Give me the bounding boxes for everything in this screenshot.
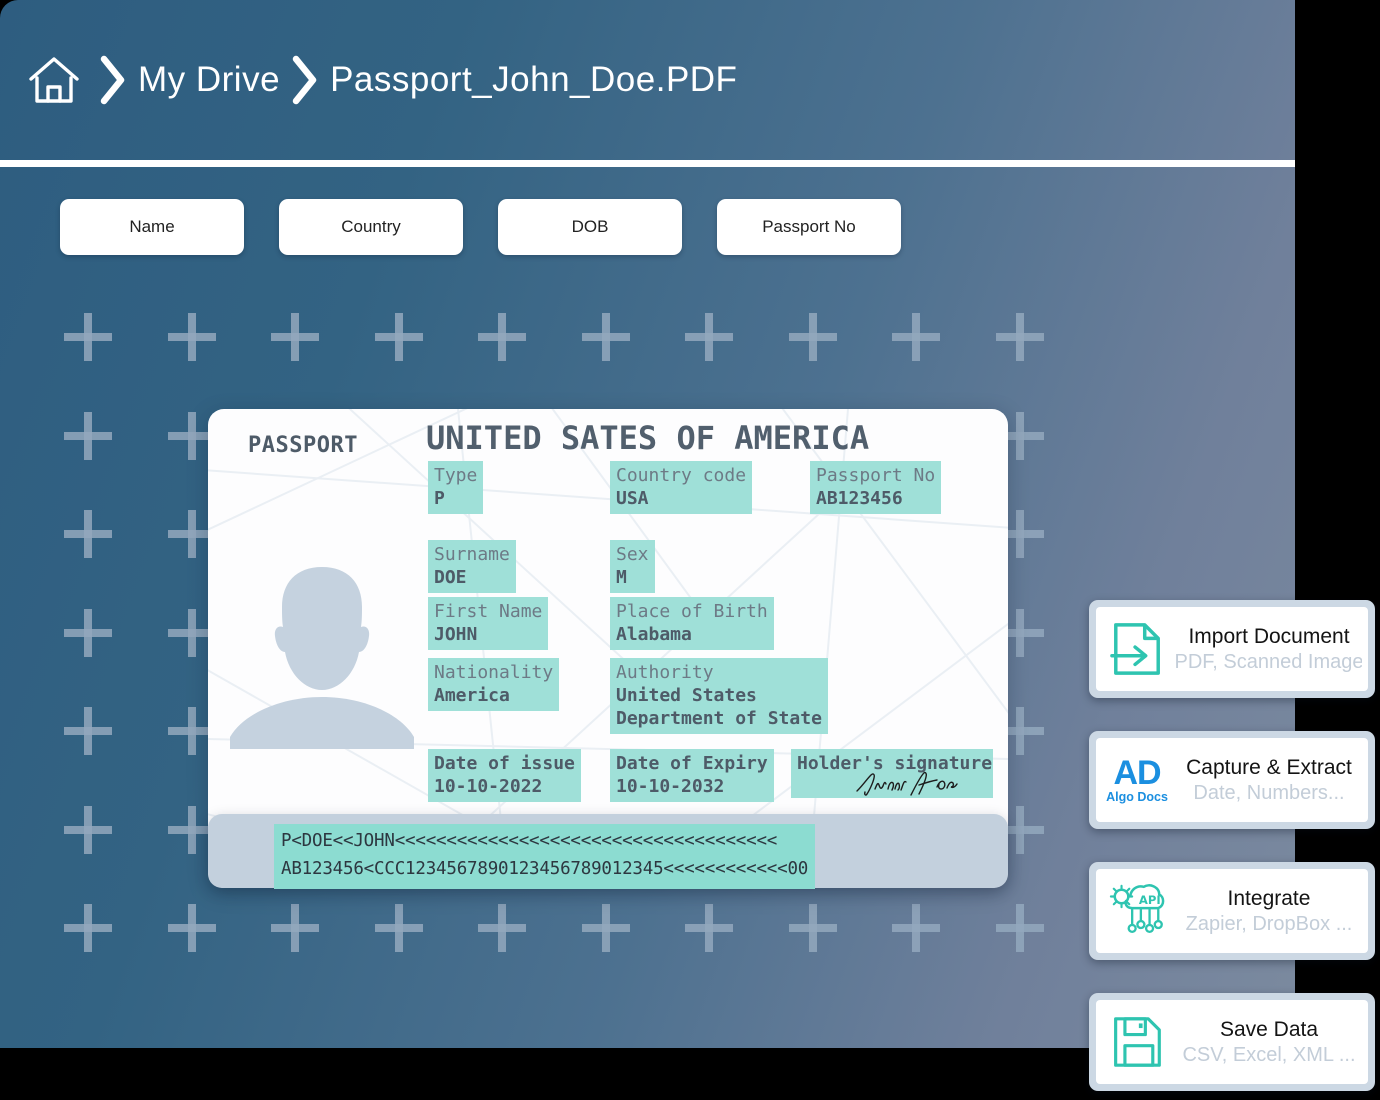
plus-decoration-icon — [375, 904, 423, 952]
plus-decoration-icon — [478, 904, 526, 952]
passport-field-sex[interactable]: Sex M — [610, 540, 655, 593]
mrz-line-1: P<DOE<<JOHN<<<<<<<<<<<<<<<<<<<<<<<<<<<<<… — [281, 831, 777, 851]
import-document-icon — [1106, 617, 1168, 681]
extracted-field-tabs: Name Country DOB Passport No — [60, 199, 901, 255]
feature-card-save-data[interactable]: Save Data CSV, Excel, XML ... — [1089, 993, 1375, 1091]
field-value: Alabama — [616, 623, 768, 646]
feature-card-text: Import Document PDF, Scanned Image — [1176, 624, 1362, 674]
passport-country-title: UNITED SATES OF AMERICA — [426, 419, 869, 457]
plus-decoration-icon — [271, 904, 319, 952]
field-value: United States Department of State — [616, 684, 822, 730]
chevron-right-icon — [288, 51, 322, 109]
algo-docs-monogram: AD — [1113, 756, 1160, 790]
feature-card-import-document[interactable]: Import Document PDF, Scanned Image — [1089, 600, 1375, 698]
feature-card-subtitle: CSV, Excel, XML ... — [1182, 1043, 1355, 1067]
field-value: USA — [616, 487, 746, 510]
passport-field-authority[interactable]: Authority United States Department of St… — [610, 658, 828, 734]
screenshot-root: My Drive Passport_John_Doe.PDF Name Coun… — [0, 0, 1380, 1100]
floppy-disk-icon — [1106, 1010, 1168, 1074]
field-value: 10-10-2022 — [434, 775, 575, 798]
handwritten-signature — [853, 771, 961, 797]
plus-decoration-icon — [685, 904, 733, 952]
feature-card-subtitle: Zapier, DropBox ... — [1186, 912, 1353, 936]
plus-decoration-icon — [271, 313, 319, 361]
mrz-tray: P<DOE<<JOHN<<<<<<<<<<<<<<<<<<<<<<<<<<<<<… — [208, 814, 1008, 888]
field-label: Country code — [616, 464, 746, 487]
field-tab-name[interactable]: Name — [60, 199, 244, 255]
feature-card-text: Integrate Zapier, DropBox ... — [1176, 886, 1362, 936]
feature-card-inner: Save Data CSV, Excel, XML ... — [1096, 1000, 1368, 1084]
field-label: Nationality — [434, 661, 553, 684]
field-label: First Name — [434, 600, 542, 623]
feature-card-integrate[interactable]: API Integrate Zapier, DropBox ... — [1089, 862, 1375, 960]
feature-card-title: Capture & Extract — [1186, 755, 1352, 781]
passport-field-surname[interactable]: Surname DOE — [428, 540, 516, 593]
svg-text:API: API — [1139, 893, 1161, 907]
passport-field-first-name[interactable]: First Name JOHN — [428, 597, 548, 650]
feature-card-title: Integrate — [1228, 886, 1311, 912]
field-value: P — [434, 487, 477, 510]
plus-decoration-icon — [685, 313, 733, 361]
plus-decoration-icon — [375, 313, 423, 361]
algo-docs-logo: AD Algo Docs — [1106, 748, 1168, 812]
feature-card-subtitle: PDF, Scanned Image — [1176, 650, 1362, 674]
field-value: AB123456 — [816, 487, 935, 510]
field-label: Place of Birth — [616, 600, 768, 623]
field-label: Date of issue — [434, 752, 575, 775]
plus-decoration-icon — [789, 904, 837, 952]
header-divider — [0, 160, 1295, 167]
feature-card-inner: AD Algo Docs Capture & Extract Date, Num… — [1096, 738, 1368, 822]
passport-type-label: PASSPORT — [248, 433, 358, 458]
field-label: Sex — [616, 543, 649, 566]
passport-field-country-code[interactable]: Country code USA — [610, 461, 752, 514]
feature-card-title: Import Document — [1188, 624, 1349, 650]
app-header: My Drive Passport_John_Doe.PDF — [0, 0, 1295, 160]
field-label: Type — [434, 464, 477, 487]
field-value: M — [616, 566, 649, 589]
feature-card-inner: Import Document PDF, Scanned Image — [1096, 607, 1368, 691]
feature-card-capture-extract[interactable]: AD Algo Docs Capture & Extract Date, Num… — [1089, 731, 1375, 829]
field-tab-passport-no[interactable]: Passport No — [717, 199, 901, 255]
field-label: Passport No — [816, 464, 935, 487]
plus-decoration-icon — [996, 904, 1044, 952]
field-value: JOHN — [434, 623, 542, 646]
plus-decoration-icon — [168, 313, 216, 361]
field-label: Surname — [434, 543, 510, 566]
plus-decoration-icon — [64, 412, 112, 460]
plus-decoration-icon — [64, 609, 112, 657]
plus-decoration-icon — [64, 904, 112, 952]
plus-decoration-icon — [64, 313, 112, 361]
passport-field-passport-no[interactable]: Passport No AB123456 — [810, 461, 941, 514]
feature-card-text: Capture & Extract Date, Numbers... — [1176, 755, 1362, 805]
portrait-placeholder-icon — [230, 549, 415, 749]
home-icon[interactable] — [26, 52, 82, 108]
passport-field-date-of-issue[interactable]: Date of issue 10-10-2022 — [428, 749, 581, 802]
breadcrumb-item-file[interactable]: Passport_John_Doe.PDF — [330, 60, 737, 100]
feature-card-text: Save Data CSV, Excel, XML ... — [1176, 1017, 1362, 1067]
breadcrumb-item-my-drive[interactable]: My Drive — [138, 60, 280, 100]
algo-docs-wordmark: Algo Docs — [1106, 791, 1168, 804]
chevron-right-icon — [96, 51, 130, 109]
feature-card-inner: API Integrate Zapier, DropBox ... — [1096, 869, 1368, 953]
field-value: 10-10-2032 — [616, 775, 768, 798]
passport-field-holders-signature[interactable]: Holder's signature — [791, 749, 993, 798]
field-tab-country[interactable]: Country — [279, 199, 463, 255]
passport-field-date-of-expiry[interactable]: Date of Expiry 10-10-2032 — [610, 749, 774, 802]
api-cloud-icon: API — [1106, 879, 1168, 943]
feature-card-title: Save Data — [1220, 1017, 1318, 1043]
breadcrumb: My Drive Passport_John_Doe.PDF — [26, 51, 737, 109]
passport-field-type[interactable]: Type P — [428, 461, 483, 514]
plus-decoration-icon — [892, 904, 940, 952]
passport-field-nationality[interactable]: Nationality America — [428, 658, 559, 711]
plus-decoration-icon — [64, 510, 112, 558]
field-tab-dob[interactable]: DOB — [498, 199, 682, 255]
plus-decoration-icon — [789, 313, 837, 361]
plus-decoration-icon — [168, 904, 216, 952]
mrz-code-block[interactable]: P<DOE<<JOHN<<<<<<<<<<<<<<<<<<<<<<<<<<<<<… — [274, 824, 815, 889]
plus-decoration-icon — [582, 313, 630, 361]
plus-decoration-icon — [582, 904, 630, 952]
feature-card-subtitle: Date, Numbers... — [1193, 781, 1344, 805]
plus-decoration-icon — [892, 313, 940, 361]
field-label: Date of Expiry — [616, 752, 768, 775]
field-value: America — [434, 684, 553, 707]
plus-decoration-icon — [64, 707, 112, 755]
plus-decoration-icon — [478, 313, 526, 361]
passport-field-place-of-birth[interactable]: Place of Birth Alabama — [610, 597, 774, 650]
plus-decoration-icon — [64, 806, 112, 854]
field-value: DOE — [434, 566, 510, 589]
plus-decoration-icon — [996, 313, 1044, 361]
mrz-line-2: AB123456<CCC1234567890123456789012345<<<… — [281, 859, 808, 879]
field-label: Authority — [616, 661, 822, 684]
